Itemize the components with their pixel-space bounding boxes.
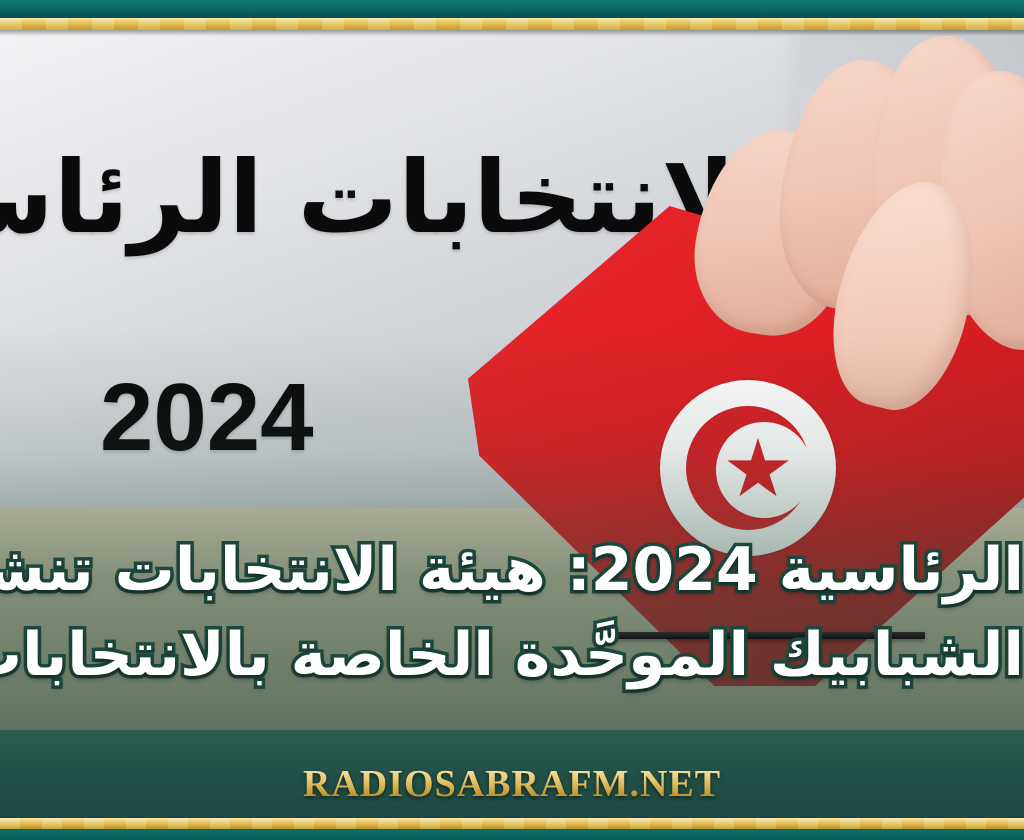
poster-year: 2024 xyxy=(100,370,314,466)
bottom-gold-stripe xyxy=(0,818,1024,829)
bottom-teal-edge xyxy=(0,829,1024,840)
ballot-box-slot-edge xyxy=(595,632,925,639)
top-frame-shadow xyxy=(0,30,1024,36)
top-gold-stripe xyxy=(0,18,1024,30)
brand-watermark: RADIOSABRAFM.NET xyxy=(0,762,1024,806)
news-graphic-card: الانتخابات الرئاسية 2024 الرئاسية 2024: … xyxy=(0,0,1024,840)
top-frame-band xyxy=(0,0,1024,18)
photo-background: الانتخابات الرئاسية 2024 xyxy=(0,30,1024,730)
hand-holding-ballot xyxy=(690,30,1024,360)
tunisian-flag-emblem-icon xyxy=(660,380,836,556)
